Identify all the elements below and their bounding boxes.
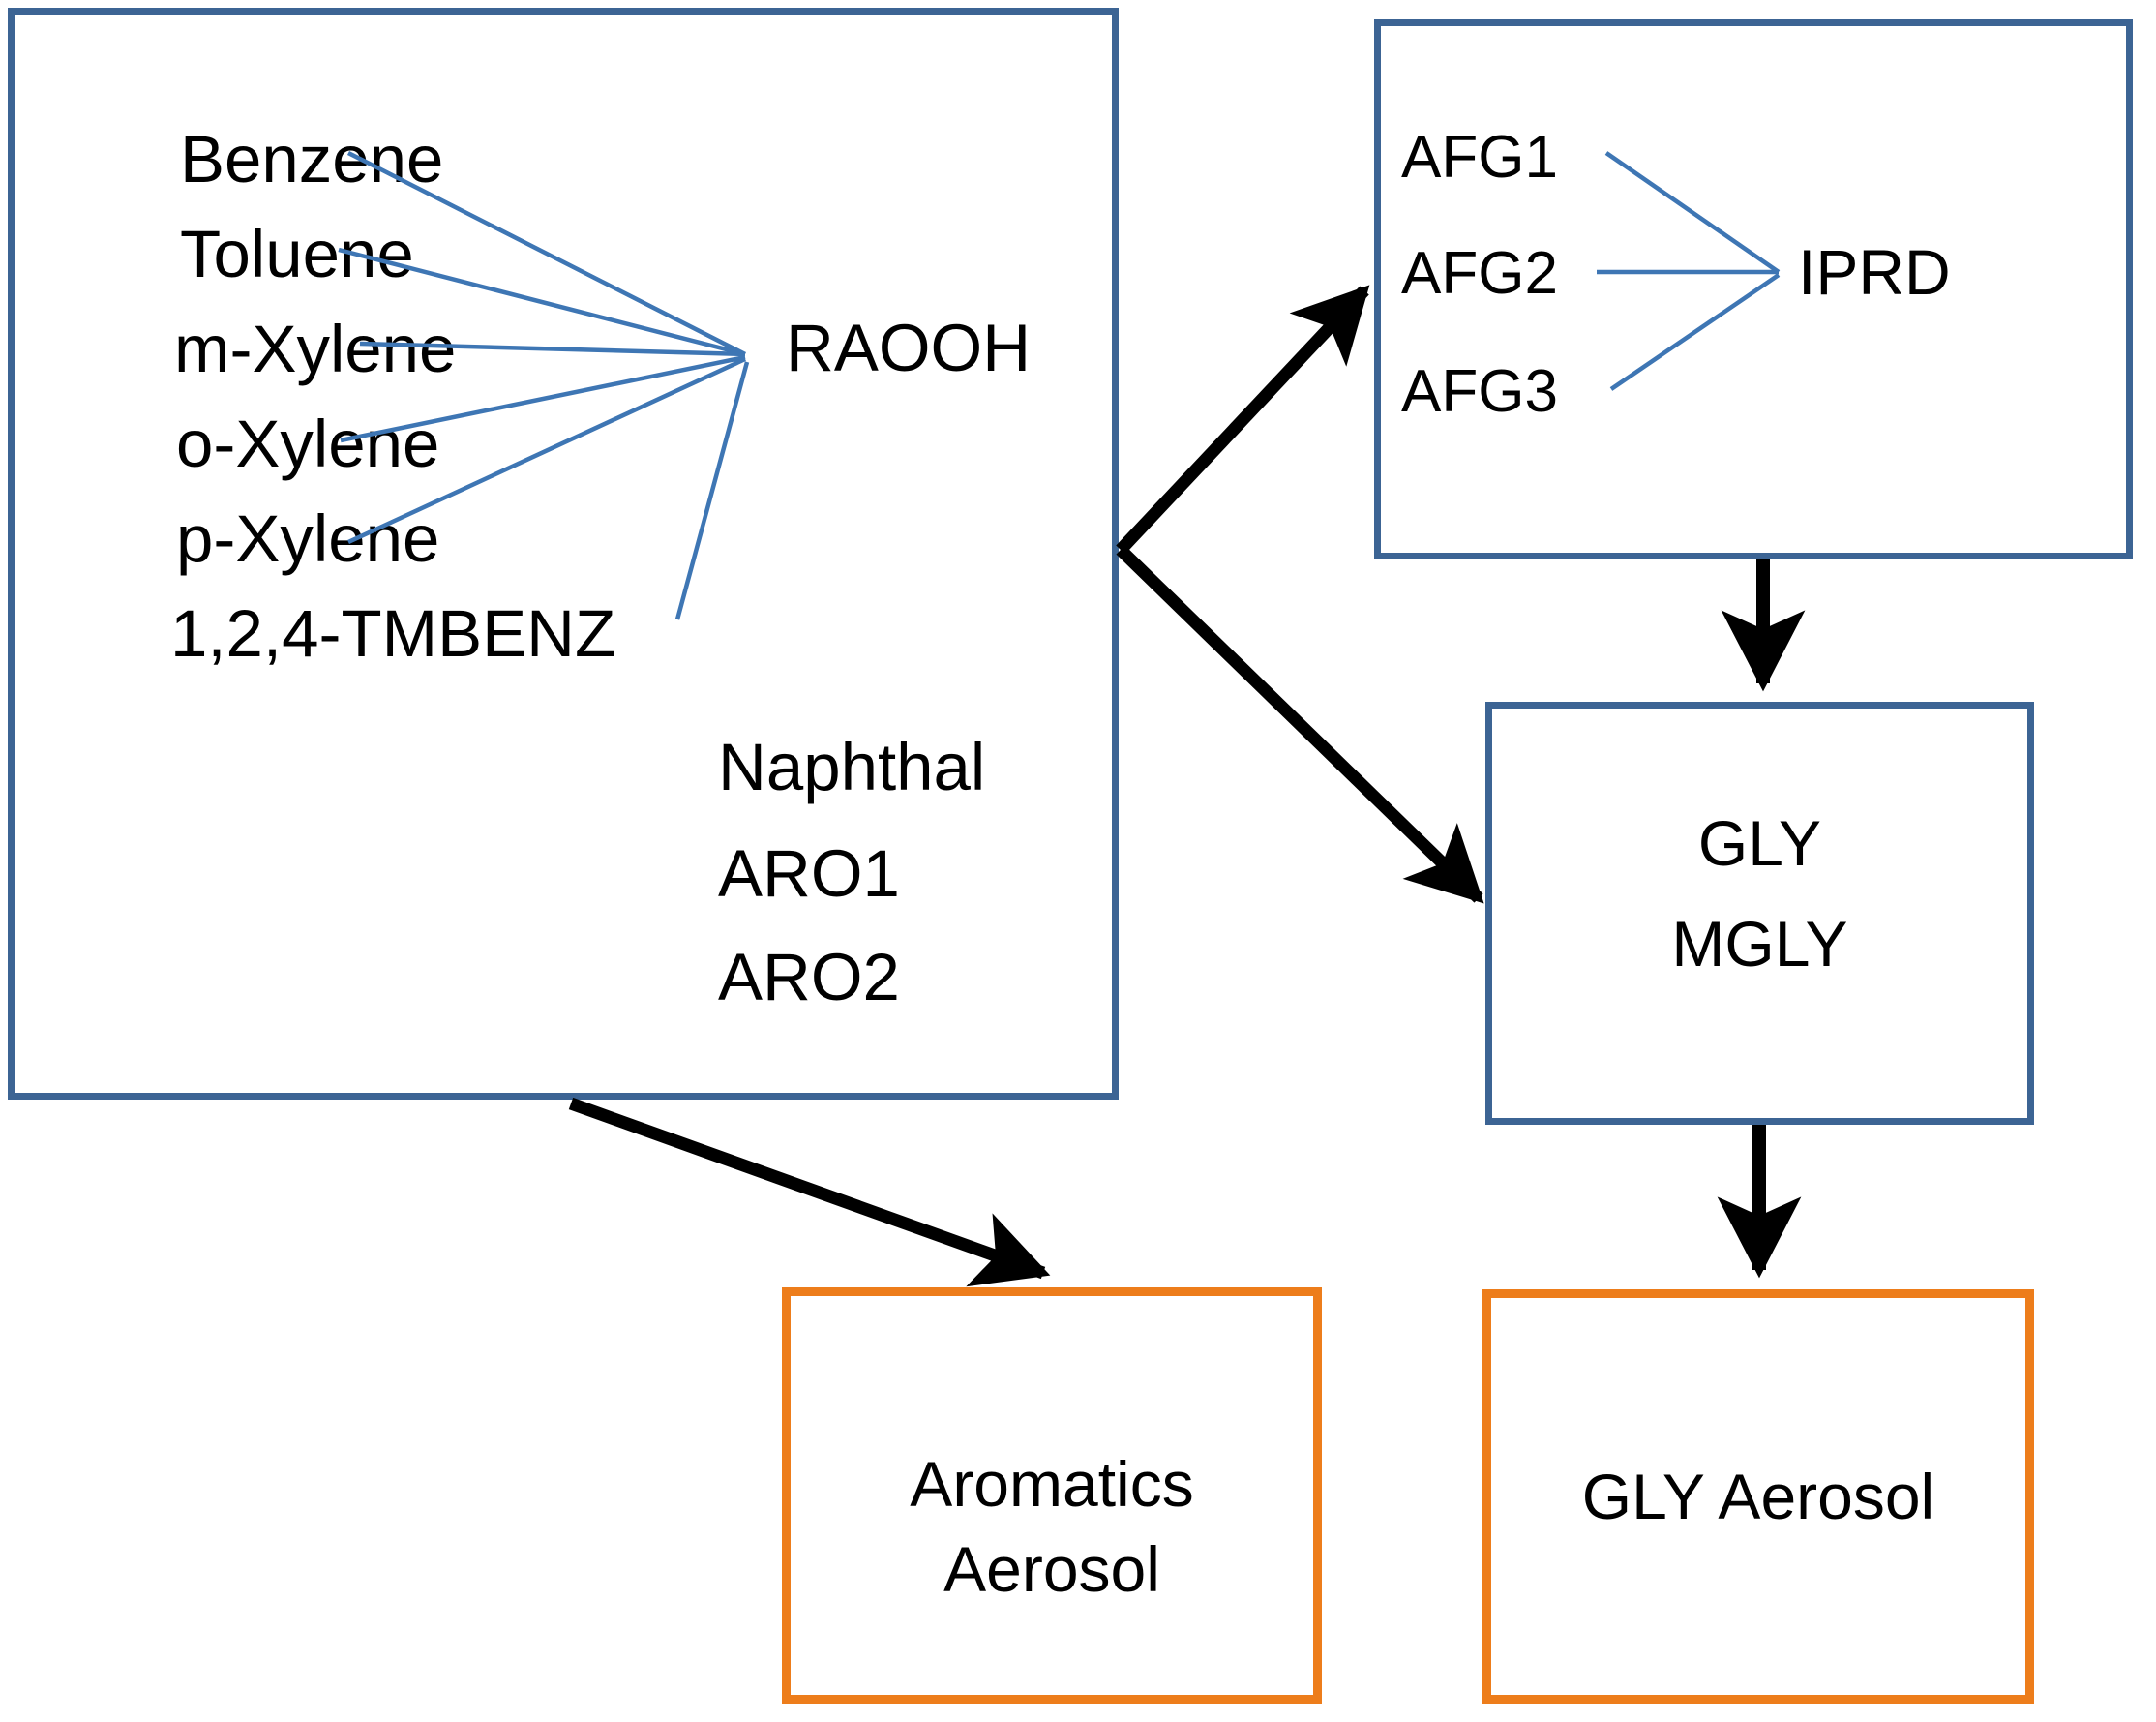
reactant-label-benzene: Benzene [180, 126, 443, 193]
reactant-label-afg1: AFG1 [1401, 128, 1558, 188]
reactant-label-124-tmbenz: 1,2,4-TMBENZ [170, 600, 615, 667]
aromatics-aerosol-labels: Aromatics Aerosol [782, 1452, 1322, 1580]
species-label-aro2: ARO2 [718, 944, 900, 1011]
reactant-label-afg2: AFG2 [1401, 244, 1558, 304]
reactant-label-o-xylene: o-Xylene [176, 410, 439, 477]
aromatic-precursors-box [8, 8, 1119, 1100]
reactant-label-m-xylene: m-Xylene [174, 316, 456, 382]
diagram-canvas: Benzene Toluene m-Xylene o-Xylene p-Xyle… [0, 0, 2156, 1722]
gly-mgly-labels: GLY MGLY [1485, 811, 2034, 939]
species-label-naphthal: Naphthal [718, 734, 985, 801]
reactant-label-toluene: Toluene [180, 221, 414, 287]
species-label-mgly: MGLY [1485, 912, 2034, 976]
reactant-label-afg3: AFG3 [1401, 362, 1558, 422]
product-label-raooh: RAOOH [786, 315, 1031, 381]
aerosol-label-aromatics: Aromatics [782, 1452, 1322, 1516]
aerosol-label-gly-aerosol: GLY Aerosol [1482, 1465, 2034, 1528]
arrow-precursors-to-aromatics-aerosol [571, 1103, 1043, 1273]
species-label-aro1: ARO1 [718, 840, 900, 907]
arrow-precursors-to-afg [1121, 290, 1364, 550]
reactant-label-p-xylene: p-Xylene [176, 505, 439, 572]
arrow-precursors-to-gly [1121, 550, 1479, 898]
species-label-gly: GLY [1485, 811, 2034, 875]
product-label-iprd: IPRD [1798, 240, 1951, 304]
gly-aerosol-labels: GLY Aerosol [1482, 1465, 2034, 1528]
aerosol-label-aerosol: Aerosol [782, 1537, 1322, 1601]
